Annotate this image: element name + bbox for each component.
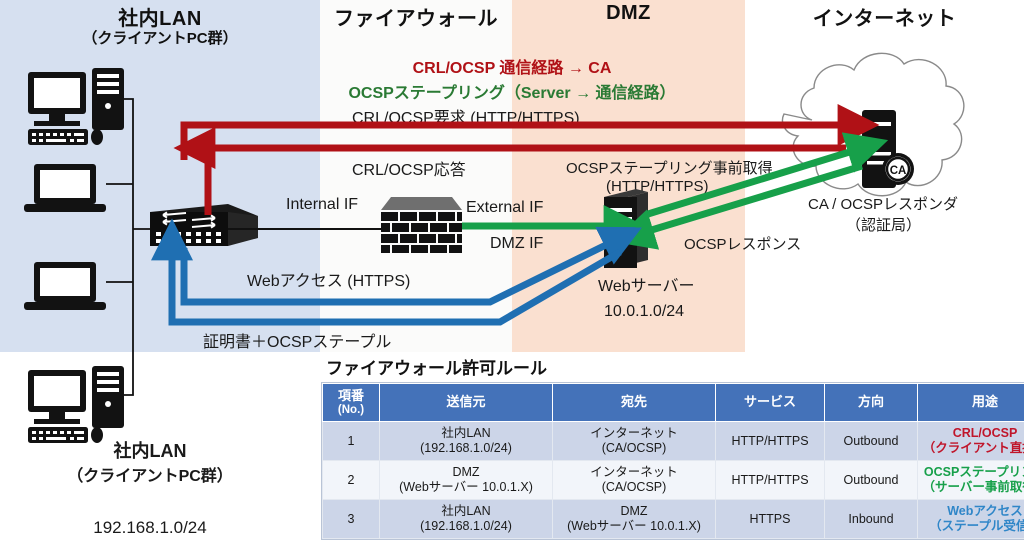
label-stapling-pre-proto: (HTTP/HTTPS): [606, 178, 709, 195]
client-desktop-bottom-icon: [28, 366, 124, 443]
cell-destination: インターネット (CA/OCSP): [553, 461, 716, 500]
col-header-service: サービス: [716, 384, 825, 422]
label-ca-sub: （認証局）: [846, 214, 921, 235]
legend-crl-path: CRL/OCSP 通信経路 → CA: [0, 54, 1024, 78]
zone-title-dmz: DMZ: [512, 2, 745, 25]
cell-destination-main: DMZ: [555, 504, 713, 519]
cell-source: 社内LAN (192.168.1.0/24): [380, 500, 553, 539]
firewall-rules-table: 項番 (No.) 送信元 宛先 サービス 方向 用途 1 社内LAN (192.…: [322, 383, 1024, 539]
label-stapling-pre: OCSPステープリング事前取得: [566, 157, 773, 178]
cell-service: HTTP/HTTPS: [716, 461, 825, 500]
cell-source: 社内LAN (192.168.1.0/24): [380, 422, 553, 461]
rules-title: ファイアウォール許可ルール: [326, 354, 1024, 379]
cell-destination-sub: (CA/OCSP): [555, 480, 713, 495]
col-header-direction: 方向: [825, 384, 918, 422]
cell-use: Webアクセス （ステープル受信）: [918, 500, 1024, 539]
label-web-server: Webサーバー: [598, 272, 694, 296]
cell-destination: インターネット (CA/OCSP): [553, 422, 716, 461]
cell-no: 3: [323, 500, 380, 539]
table-row: 2 DMZ (Webサーバー 10.0.1.X) インターネット (CA/OCS…: [323, 461, 1024, 500]
cell-source-sub: (192.168.1.0/24): [382, 441, 550, 456]
cell-use-sub: （クライアント直接）: [920, 441, 1024, 456]
cell-service: HTTP/HTTPS: [716, 422, 825, 461]
cell-no: 2: [323, 461, 380, 500]
cell-use-sub: （サーバー事前取得）: [920, 480, 1024, 495]
zone-lan: [0, 0, 320, 352]
cell-source-sub: (Webサーバー 10.0.1.X): [382, 480, 550, 495]
label-lan-subnet: 192.168.1.0/24: [0, 518, 300, 538]
cell-direction: Outbound: [825, 422, 918, 461]
diagram-canvas: 社内LAN （クライアントPC群） ファイアウォール DMZ インターネット C…: [0, 0, 1024, 558]
cell-use: OCSPステープリング （サーバー事前取得）: [918, 461, 1024, 500]
zone-title-internet: インターネット: [745, 2, 1024, 31]
label-lan-bottom-sub: （クライアントPC群）: [0, 462, 300, 486]
col-header-no-sub: (No.): [325, 404, 377, 417]
col-header-destination: 宛先: [553, 384, 716, 422]
label-dmz-if: DMZ IF: [490, 235, 543, 253]
cell-use-sub: （ステープル受信）: [920, 519, 1024, 534]
cell-use-main: Webアクセス: [920, 504, 1024, 519]
cell-destination: DMZ (Webサーバー 10.0.1.X): [553, 500, 716, 539]
label-internal-if: Internal IF: [286, 196, 358, 214]
col-header-no-main: 項番: [325, 389, 377, 404]
label-web-server-subnet: 10.0.1.0/24: [604, 303, 684, 321]
cell-use-main: CRL/OCSP: [920, 426, 1024, 441]
col-header-use: 用途: [918, 384, 1024, 422]
zone-subtitle-lan: （クライアントPC群）: [0, 27, 320, 48]
cell-destination-main: インターネット: [555, 426, 713, 441]
zone-title-firewall: ファイアウォール: [320, 2, 512, 31]
legend-stapling-path: OCSPステープリング（Server → 通信経路）: [0, 79, 1024, 103]
label-web-access: Webアクセス (HTTPS): [247, 267, 410, 291]
cell-source-main: 社内LAN: [382, 426, 550, 441]
cell-service: HTTPS: [716, 500, 825, 539]
cell-destination-sub: (Webサーバー 10.0.1.X): [555, 519, 713, 534]
table-header-row: 項番 (No.) 送信元 宛先 サービス 方向 用途: [323, 384, 1024, 422]
label-external-if: External IF: [466, 199, 543, 217]
table-row: 3 社内LAN (192.168.1.0/24) DMZ (Webサーバー 10…: [323, 500, 1024, 539]
cell-direction: Outbound: [825, 461, 918, 500]
cell-source-sub: (192.168.1.0/24): [382, 519, 550, 534]
table-row: 1 社内LAN (192.168.1.0/24) インターネット (CA/OCS…: [323, 422, 1024, 461]
label-cert-staple: 証明書＋OCSPステープル: [203, 328, 391, 352]
label-lan-bottom: 社内LAN: [0, 437, 300, 463]
cell-destination-sub: (CA/OCSP): [555, 441, 713, 456]
col-header-source: 送信元: [380, 384, 553, 422]
cell-source-main: DMZ: [382, 465, 550, 480]
cell-source-main: 社内LAN: [382, 504, 550, 519]
label-ca: CA / OCSPレスポンダ: [808, 193, 958, 214]
cell-use-main: OCSPステープリング: [920, 465, 1024, 480]
label-crl-response: CRL/OCSP応答: [352, 156, 466, 180]
cell-no: 1: [323, 422, 380, 461]
zone-internet: [745, 0, 1024, 352]
col-header-no: 項番 (No.): [323, 384, 380, 422]
cell-use: CRL/OCSP （クライアント直接）: [918, 422, 1024, 461]
label-ocsp-response: OCSPレスポンス: [684, 233, 801, 254]
label-crl-request: CRL/OCSP要求 (HTTP/HTTPS): [352, 104, 580, 128]
cell-destination-main: インターネット: [555, 465, 713, 480]
cell-direction: Inbound: [825, 500, 918, 539]
cell-source: DMZ (Webサーバー 10.0.1.X): [380, 461, 553, 500]
firewall-rules-section: ファイアウォール許可ルール 項番 (No.) 送信元 宛先 サービス 方向 用途: [322, 352, 1024, 539]
